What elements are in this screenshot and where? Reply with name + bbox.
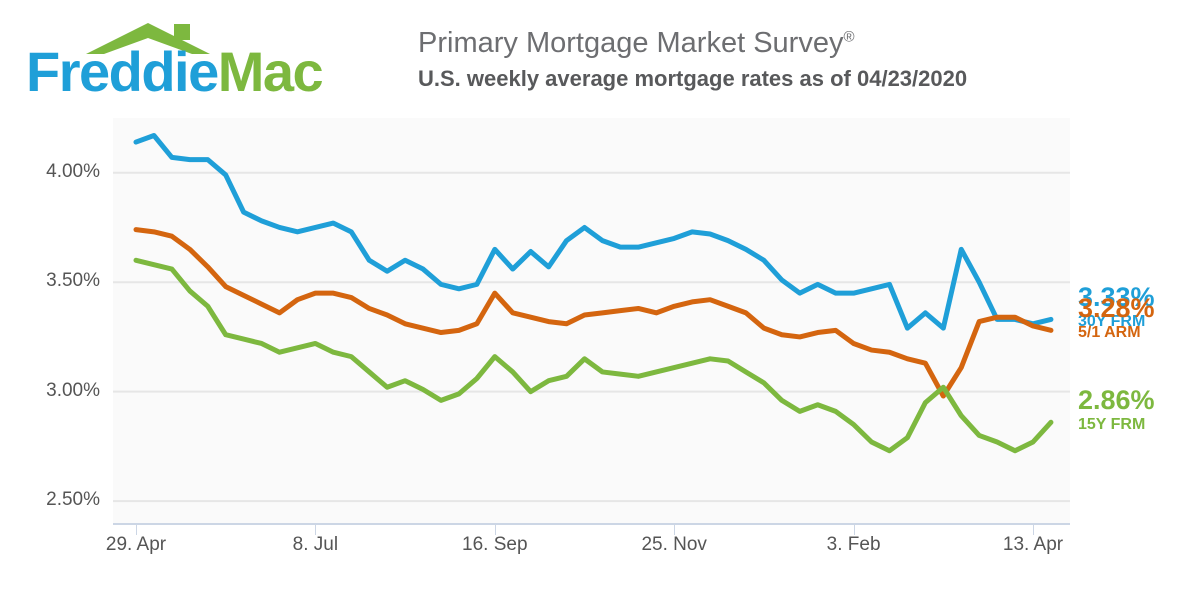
x-axis-label-13-apr: 13. Apr	[1003, 534, 1063, 556]
x-axis-label-29-apr: 29. Apr	[106, 534, 166, 556]
x-axis-label-25-nov: 25. Nov	[641, 534, 706, 556]
legend-value: 3.28%	[1078, 294, 1200, 322]
legend-series-name: 15Y FRM	[1078, 416, 1200, 434]
legend-item-5-1-arm: 3.28%5/1 ARM	[1078, 294, 1200, 341]
x-axis-label-8-jul: 8. Jul	[293, 534, 338, 556]
x-axis-label-16-sep: 16. Sep	[462, 534, 528, 556]
legend-item-15y-frm: 2.86%15Y FRM	[1078, 386, 1200, 433]
x-axis-labels: 29. Apr8. Jul16. Sep25. Nov3. Feb13. Apr	[0, 0, 1200, 600]
legend-series-name: 5/1 ARM	[1078, 324, 1200, 342]
legend: 3.33%30Y FRM3.28%5/1 ARM2.86%15Y FRM	[1078, 118, 1200, 523]
legend-value: 2.86%	[1078, 386, 1200, 414]
chart-page: FreddieMac Primary Mortgage Market Surve…	[0, 0, 1200, 600]
x-axis-label-3-feb: 3. Feb	[827, 534, 881, 556]
